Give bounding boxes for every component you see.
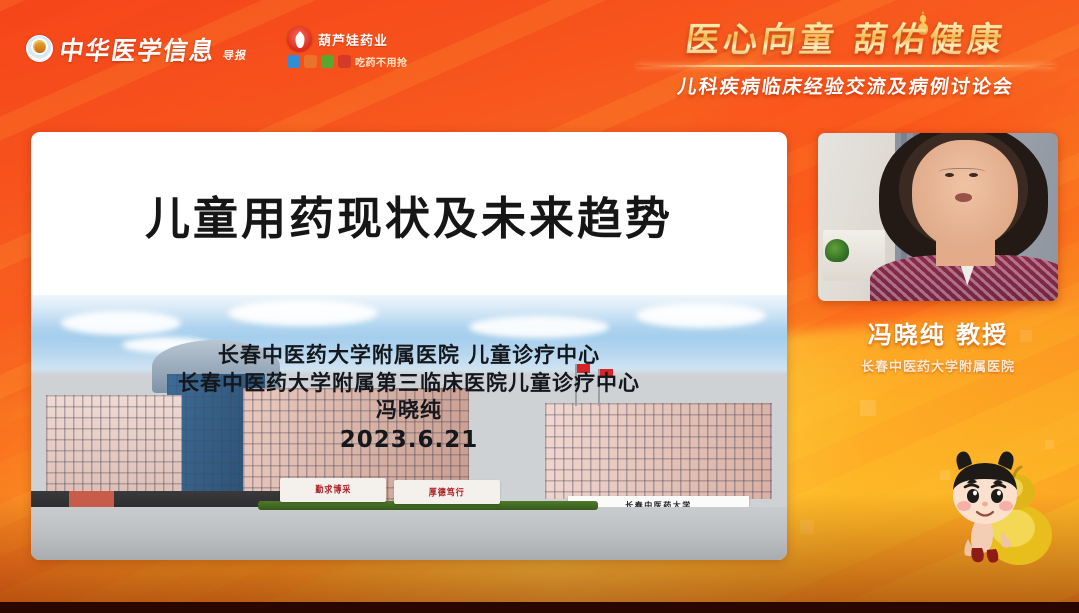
banner-title: 医心向童 葫佑健康 — [628, 12, 1065, 61]
speaker-caption: 冯晓纯 教授 长春中医药大学附属医院 — [818, 315, 1058, 375]
sponsor-logo-name: 葫芦娃药业 — [318, 30, 388, 49]
sign-wall-right: 厚德笃行 — [394, 480, 500, 504]
chip-green-icon — [321, 55, 334, 68]
cloud-shape — [469, 316, 609, 338]
sign-wall-left: 勤求博采 — [280, 478, 386, 502]
sponsor-logo: 葫芦娃药业 吃药不用抢 — [287, 27, 408, 69]
banner-subtitle: 儿科疾病临床经验交流及病例讨论会 — [629, 72, 1063, 99]
video-plant — [825, 239, 849, 263]
cloud-shape — [61, 311, 181, 335]
speaker-name: 冯晓纯 教授 — [818, 315, 1058, 350]
slide-date: 2023.6.21 — [31, 425, 787, 456]
speaker-video-tile[interactable] — [818, 133, 1058, 301]
video-speaker-figure — [866, 133, 1058, 301]
event-banner: 医心向童 葫佑健康 儿科疾病临床经验交流及病例讨论会 — [631, 12, 1061, 99]
slide-subtitle-block: 长春中医药大学附属医院 儿童诊疗中心 长春中医药大学附属第三临床医院儿童诊疗中心… — [31, 342, 787, 456]
publisher-logo-name: 中华医学信息 — [57, 29, 219, 66]
speaker-eye — [945, 173, 954, 177]
speaker-eye — [969, 173, 978, 177]
broadcast-stage: 中华医学信息 导报 葫芦娃药业 吃药不用抢 医心向童 葫佑健康 儿科疾病临床经验… — [0, 0, 1079, 613]
sponsor-tagline: 吃药不用抢 — [355, 54, 408, 69]
speaker-face — [912, 140, 1018, 249]
publisher-logo: 中华医学信息 导报 — [26, 31, 247, 66]
letterbox-bar — [0, 602, 1079, 613]
cloud-shape — [636, 303, 766, 328]
chip-red-icon — [338, 55, 351, 68]
huluwa-badge-icon — [287, 27, 312, 52]
slide-subtitle-line: 长春中医药大学附属第三临床医院儿童诊疗中心 — [31, 370, 787, 398]
brand-logo-row: 中华医学信息 导报 葫芦娃药业 吃药不用抢 — [26, 27, 408, 69]
speaker-organization: 长春中医药大学附属医院 — [818, 356, 1058, 375]
plaza-ground — [31, 507, 787, 560]
slide-subtitle-line: 长春中医药大学附属医院 儿童诊疗中心 — [31, 342, 787, 370]
slide-title: 儿童用药现状及未来趋势 — [31, 182, 787, 247]
banner-divider — [637, 65, 1055, 67]
presentation-slide[interactable]: 长春中医药大学 勤求博采 厚德笃行 儿童用药现状及未来趋势 长春中医药大学附属医… — [31, 132, 787, 560]
slide-presenter-name: 冯晓纯 — [31, 397, 787, 425]
chip-orange-icon — [304, 55, 317, 68]
publisher-logo-suffix: 导报 — [222, 47, 249, 63]
seal-emblem-icon — [26, 35, 53, 62]
speaker-mouth — [955, 193, 972, 202]
chip-blue-icon — [287, 55, 300, 68]
cloud-shape — [228, 300, 378, 326]
huluwa-mascot-icon — [915, 440, 1075, 575]
